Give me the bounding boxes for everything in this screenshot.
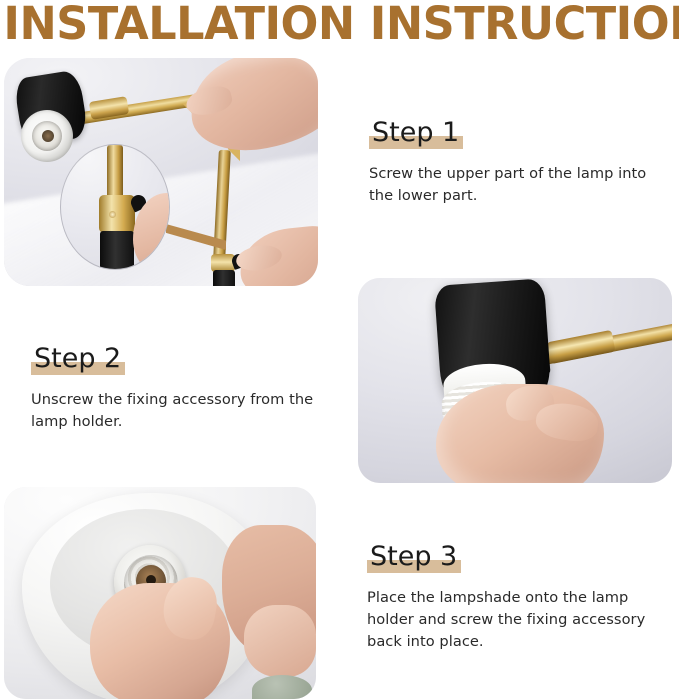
inset-brass-pole: [107, 145, 123, 199]
step-1-heading: Step 1: [369, 119, 463, 146]
inset-black-sleeve: [100, 231, 134, 270]
socket-contact: [42, 130, 54, 142]
fingers-right: [244, 605, 316, 677]
step-2-heading-text: Step 2: [34, 343, 121, 374]
step-3-heading-text: Step 3: [370, 541, 457, 572]
step-3-body: Place the lampshade onto the lamp holder…: [367, 587, 667, 654]
lampshade-mounting-photo: [4, 487, 316, 699]
step-2-block: Step 2 Unscrew the fixing accessory from…: [31, 345, 331, 433]
background-object: [252, 675, 312, 699]
inset-screw-head: [109, 211, 116, 218]
step-2-body: Unscrew the fixing accessory from the la…: [31, 389, 331, 433]
lamp-arm-assembly-photo: [4, 58, 318, 286]
installation-instructions-page: INSTALLATION INSTRUCTIONS: [0, 0, 679, 699]
step-3-block: Step 3 Place the lampshade onto the lamp…: [367, 543, 667, 654]
step-1-heading-text: Step 1: [372, 117, 459, 148]
step-1-body: Screw the upper part of the lamp into th…: [369, 163, 665, 207]
step-1-block: Step 1 Screw the upper part of the lamp …: [369, 119, 665, 207]
page-title: INSTALLATION INSTRUCTIONS: [3, 0, 675, 50]
inset-brass-collar: [99, 195, 135, 233]
base-black-sleeve: [213, 270, 235, 286]
step-3-heading: Step 3: [367, 543, 461, 570]
magnifier-inset-circle: [60, 144, 170, 270]
lamp-holder-closeup-photo: [358, 278, 672, 483]
step-2-heading: Step 2: [31, 345, 125, 372]
